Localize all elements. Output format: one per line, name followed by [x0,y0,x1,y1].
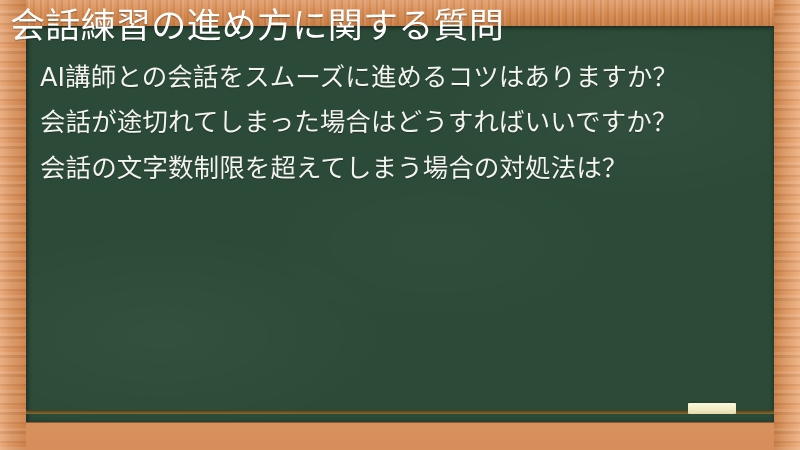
question-list: AI講師との会話をスムーズに進めるコツはありますか？ 会話が途切れてしまった場合… [4,62,784,187]
slide-content: 会話練習の進め方に関する質問 AI講師との会話をスムーズに進めるコツはありますか… [0,0,800,450]
list-item: 会話が途切れてしまった場合はどうすればいいですか？ [4,107,784,141]
list-item: 会話の文字数制限を超えてしまう場合の対処法は？ [4,153,784,187]
page-title: 会話練習の進め方に関する質問 [4,7,784,48]
chalkboard-slide: 会話練習の進め方に関する質問 AI講師との会話をスムーズに進めるコツはありますか… [0,0,800,450]
list-item: AI講師との会話をスムーズに進めるコツはありますか？ [4,62,784,96]
chalk-stick-icon [688,403,736,414]
